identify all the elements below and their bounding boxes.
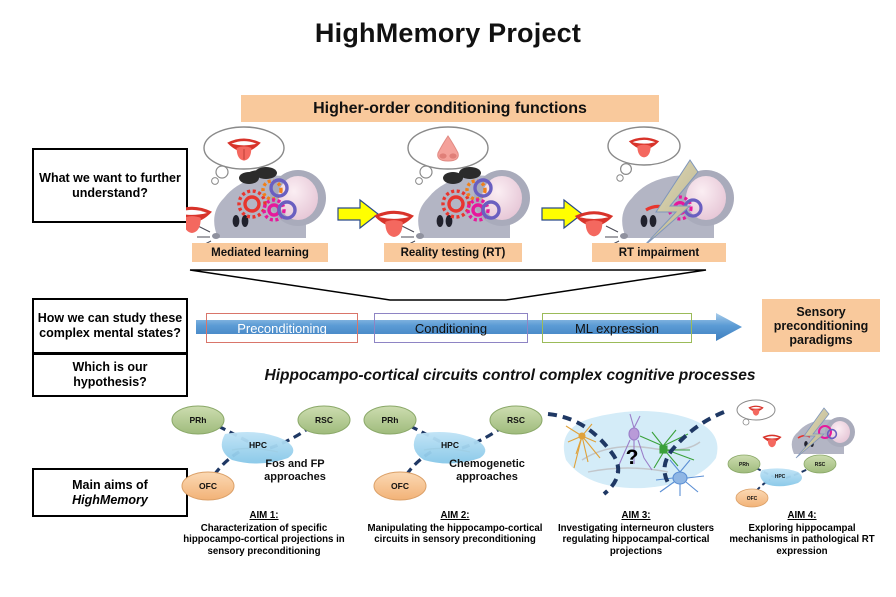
stimulus-mouth-3	[575, 211, 613, 236]
question-mark-label: ?	[626, 446, 639, 469]
main-aims-line2: HighMemory	[72, 493, 148, 507]
mouse-mediated-learning	[186, 127, 326, 244]
label-hpc-2: HPC	[441, 440, 459, 450]
label-hpc-4: HPC	[775, 474, 786, 480]
flow-arrow-1	[338, 200, 378, 228]
stimulus-mouth-2	[374, 211, 414, 237]
caption-rt-impairment: RT impairment	[592, 243, 726, 262]
label-prh-2: PRh	[382, 415, 399, 425]
label-ofc-2: OFC	[391, 481, 409, 491]
question-box-understand: What we want to further understand?	[32, 148, 188, 223]
label-rsc-2: RSC	[507, 415, 525, 425]
label-hpc-1: HPC	[249, 440, 267, 450]
stage-preconditioning: Preconditioning	[206, 313, 358, 343]
aim3-body: Investigating interneuron clusters regul…	[558, 523, 714, 557]
label-rsc-4: RSC	[815, 462, 826, 468]
aim1-body: Characterization of specific hippocampo-…	[183, 523, 344, 557]
label-ofc-1: OFC	[199, 481, 217, 491]
aim1-block: AIM 1: Characterization of specific hipp…	[174, 510, 354, 557]
stage-ml-expression: ML expression	[542, 313, 692, 343]
circuit-aim3: ?	[548, 411, 724, 496]
question-box-study: How we can study these complex mental st…	[32, 298, 188, 354]
mini-mouse-aim4	[737, 400, 855, 458]
funnel-connector	[188, 268, 708, 304]
mouse-reality-testing	[374, 127, 530, 244]
approach-label-aim1: Fos and FP approaches	[240, 458, 350, 484]
aim4-title: AIM 4:	[722, 510, 882, 522]
label-ofc-4: OFC	[747, 496, 758, 502]
page-title: HighMemory Project	[0, 18, 896, 49]
aim2-body: Manipulating the hippocampo-cortical cir…	[368, 523, 543, 546]
circuit-aim2: PRh RSC OFC HPC	[364, 406, 542, 500]
aim2-block: AIM 2: Manipulating the hippocampo-corti…	[363, 510, 547, 546]
aim4-body: Exploring hippocampal mechanisms in path…	[729, 523, 874, 557]
conditioning-illustrations	[186, 126, 746, 244]
caption-mediated-learning: Mediated learning	[192, 243, 328, 262]
label-prh-4: PRh	[739, 462, 749, 468]
mouse-rt-impairment	[575, 127, 734, 244]
sensory-preconditioning-paradigms: Sensory preconditioning paradigms	[762, 299, 880, 352]
circuit-aim4: PRh RSC OFC HPC	[728, 400, 855, 507]
label-prh-1: PRh	[190, 415, 207, 425]
aim3-block: AIM 3: Investigating interneuron cluster…	[551, 510, 721, 557]
approach-label-aim2: Chemogenetic approaches	[432, 458, 542, 484]
question-box-hypothesis: Which is our hypothesis?	[32, 353, 188, 397]
label-rsc-1: RSC	[315, 415, 333, 425]
stage-conditioning: Conditioning	[374, 313, 528, 343]
main-aims-line1: Main aims of	[72, 478, 148, 492]
thought-bubble-3	[608, 127, 680, 181]
mini-circuit-aim4: PRh RSC OFC HPC	[728, 455, 836, 507]
aim3-title: AIM 3:	[551, 510, 721, 522]
banner-higher-order-conditioning: Higher-order conditioning functions	[241, 95, 659, 122]
flow-arrow-2	[542, 200, 582, 228]
aim1-title: AIM 1:	[174, 510, 354, 522]
aim4-block: AIM 4: Exploring hippocampal mechanisms …	[722, 510, 882, 557]
aim2-title: AIM 2:	[363, 510, 547, 522]
caption-reality-testing: Reality testing (RT)	[384, 243, 522, 262]
stimulus-mouth-1	[186, 207, 212, 233]
aim-circuit-diagrams: PRh RSC OFC HPC PRh RSC OFC HPC	[160, 398, 890, 508]
hypothesis-statement: Hippocampo-cortical circuits control com…	[190, 367, 830, 385]
circuit-aim1: PRh RSC OFC HPC	[172, 406, 350, 500]
